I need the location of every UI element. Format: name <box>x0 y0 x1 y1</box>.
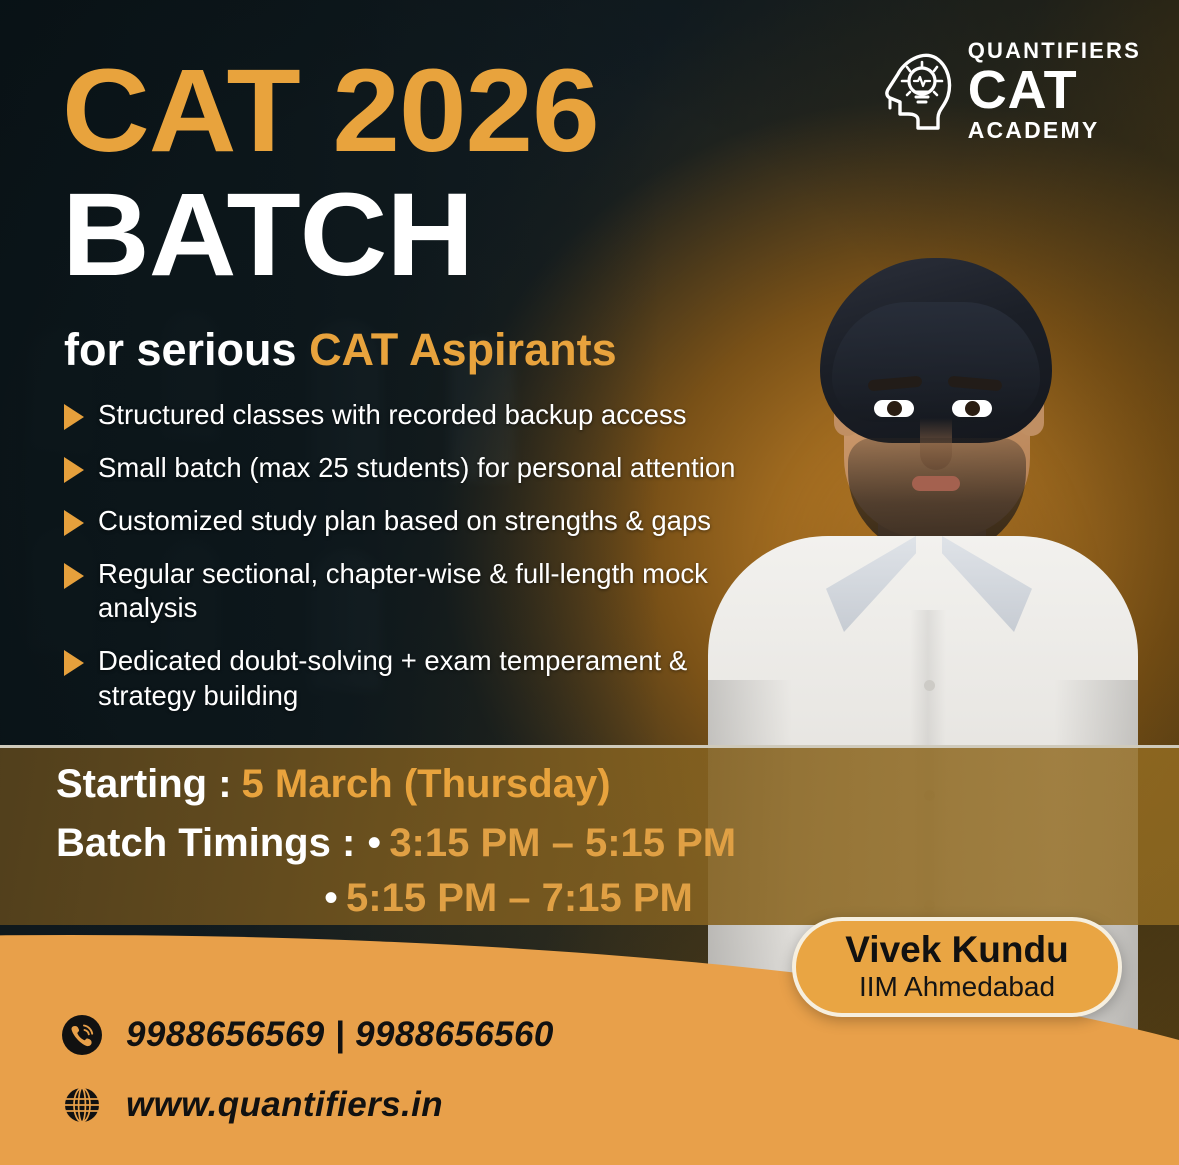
list-item: Dedicated doubt-solving + exam temperame… <box>64 644 764 712</box>
contact-website-row[interactable]: www.quantifiers.in <box>60 1083 554 1127</box>
triangle-bullet-icon <box>64 457 84 483</box>
poster-canvas: QUANTIFIERS CAT ACADEMY CAT 2026 BATCH f… <box>0 0 1179 1165</box>
page-title: CAT 2026 BATCH <box>62 52 583 297</box>
title-line-batch: BATCH <box>62 174 599 297</box>
schedule-content: Starting : 5 March (Thursday) Batch Timi… <box>56 762 736 921</box>
list-item-label: Regular sectional, chapter-wise & full-l… <box>98 557 708 625</box>
website-url: www.quantifiers.in <box>126 1085 443 1125</box>
list-item: Structured classes with recorded backup … <box>64 398 764 432</box>
timing-dot-icon: • <box>367 821 381 866</box>
subtitle-accent: CAT Aspirants <box>309 324 617 375</box>
contact-phone-row[interactable]: 9988656569 | 9988656560 <box>60 1013 554 1057</box>
subtitle: for serious CAT Aspirants <box>64 324 617 376</box>
schedule-timing-row-1: Batch Timings : • 3:15 PM – 5:15 PM <box>56 821 736 866</box>
instructor-name: Vivek Kundu <box>845 931 1068 970</box>
timing-slot-2: 5:15 PM – 7:15 PM <box>346 876 693 921</box>
brand-line-quantifiers: QUANTIFIERS <box>968 40 1141 62</box>
list-item-label: Dedicated doubt-solving + exam temperame… <box>98 644 718 712</box>
brand-line-academy: ACADEMY <box>968 119 1141 142</box>
globe-icon <box>60 1083 104 1127</box>
schedule-timing-row-2: • 5:15 PM – 7:15 PM <box>324 876 736 921</box>
list-item-label: Structured classes with recorded backup … <box>98 398 686 432</box>
phone-number: 9988656569 | 9988656560 <box>126 1015 554 1055</box>
triangle-bullet-icon <box>64 404 84 430</box>
head-lightbulb-icon <box>878 48 956 134</box>
starting-label: Starting : <box>56 762 232 807</box>
brand-line-cat: CAT <box>968 63 1141 117</box>
schedule-start-row: Starting : 5 March (Thursday) <box>56 762 736 807</box>
feature-list: Structured classes with recorded backup … <box>64 398 764 732</box>
list-item: Small batch (max 25 students) for person… <box>64 451 764 485</box>
list-item-label: Customized study plan based on strengths… <box>98 504 711 538</box>
timing-dot-icon: • <box>324 876 338 921</box>
title-line-cat-2026: CAT 2026 <box>62 52 599 170</box>
contact-info: 9988656569 | 9988656560 www.quantifiers.… <box>60 987 554 1127</box>
triangle-bullet-icon <box>64 563 84 589</box>
starting-value: 5 March (Thursday) <box>242 762 611 807</box>
photo-shirt-button <box>924 680 935 691</box>
brand-logo: QUANTIFIERS CAT ACADEMY <box>878 40 1141 142</box>
instructor-badge: Vivek Kundu IIM Ahmedabad <box>792 917 1122 1017</box>
list-item: Customized study plan based on strengths… <box>64 504 764 538</box>
triangle-bullet-icon <box>64 650 84 676</box>
list-item: Regular sectional, chapter-wise & full-l… <box>64 557 764 625</box>
brand-logo-text: QUANTIFIERS CAT ACADEMY <box>968 40 1141 142</box>
phone-call-icon <box>60 1013 104 1057</box>
photo-lips <box>912 476 960 491</box>
timing-slot-1: 3:15 PM – 5:15 PM <box>389 821 736 866</box>
subtitle-plain: for serious <box>64 324 309 375</box>
triangle-bullet-icon <box>64 510 84 536</box>
instructor-institute: IIM Ahmedabad <box>859 972 1055 1003</box>
timings-label: Batch Timings : <box>56 821 355 866</box>
photo-eye-right <box>952 400 992 417</box>
photo-eye-left <box>874 400 914 417</box>
list-item-label: Small batch (max 25 students) for person… <box>98 451 735 485</box>
